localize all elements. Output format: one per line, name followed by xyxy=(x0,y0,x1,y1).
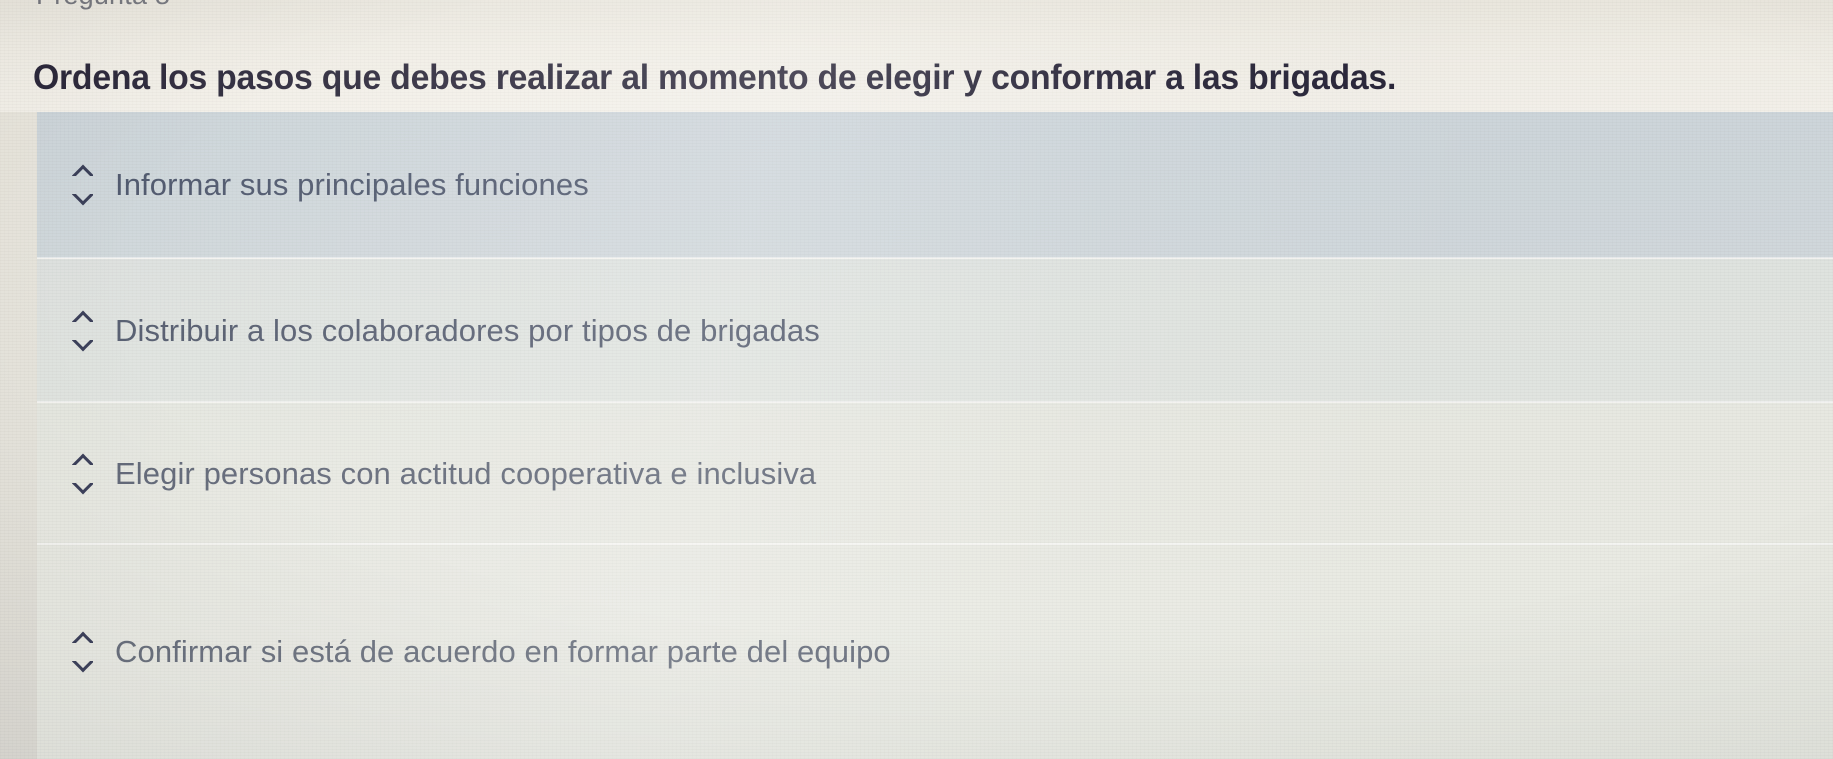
chevron-up-icon xyxy=(72,631,93,643)
left-page-gutter xyxy=(0,112,37,759)
sort-updown-chevron-icon[interactable] xyxy=(65,451,99,497)
option-item[interactable]: Confirmar si está de acuerdo en formar p… xyxy=(37,545,1833,759)
option-label: Distribuir a los colaboradores por tipos… xyxy=(115,313,820,349)
option-label: Elegir personas con actitud cooperativa … xyxy=(115,456,816,492)
question-prompt: Ordena los pasos que debes realizar al m… xyxy=(33,57,1751,99)
sort-updown-chevron-icon[interactable] xyxy=(65,162,99,208)
chevron-up-icon xyxy=(72,453,93,465)
chevron-down-icon xyxy=(72,194,93,206)
option-label: Confirmar si está de acuerdo en formar p… xyxy=(115,634,891,670)
chevron-down-icon xyxy=(72,661,93,673)
option-item[interactable]: Informar sus principales funciones xyxy=(37,112,1833,258)
sort-updown-chevron-icon[interactable] xyxy=(65,629,99,675)
quiz-ordering-question-screenshot: Pregunta 8 Ordena los pasos que debes re… xyxy=(0,0,1833,759)
option-label: Informar sus principales funciones xyxy=(115,167,589,203)
chevron-up-icon xyxy=(72,310,93,322)
sort-updown-chevron-icon[interactable] xyxy=(65,308,99,354)
chevron-down-icon xyxy=(72,483,93,495)
option-item[interactable]: Elegir personas con actitud cooperativa … xyxy=(37,403,1833,544)
orderable-options-list: Informar sus principales funciones Distr… xyxy=(37,112,1833,759)
chevron-up-icon xyxy=(72,164,93,176)
question-number-label: Pregunta 8 xyxy=(36,0,170,11)
option-item[interactable]: Distribuir a los colaboradores por tipos… xyxy=(37,259,1833,402)
chevron-down-icon xyxy=(72,340,93,352)
